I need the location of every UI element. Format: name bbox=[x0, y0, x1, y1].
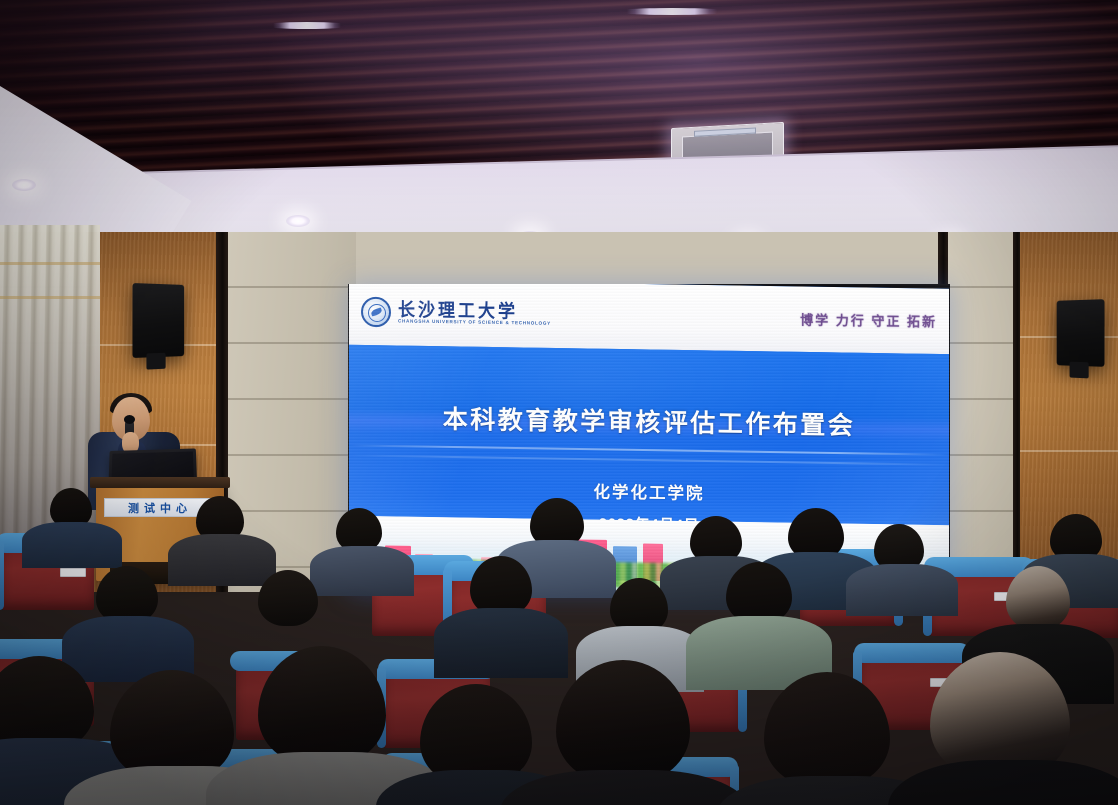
audience-shoulders bbox=[434, 608, 568, 678]
chair-number-tag bbox=[60, 568, 86, 577]
audience-head bbox=[470, 556, 532, 616]
wall-loudspeaker-right bbox=[1057, 299, 1105, 367]
slide-header-band: 长沙理工大学 CHANGSHA UNIVERSITY OF SCIENCE & … bbox=[349, 284, 949, 354]
speaker-bracket bbox=[146, 353, 165, 370]
ceiling-shadow-left bbox=[0, 0, 230, 120]
curtain-tie-2 bbox=[0, 296, 100, 299]
downlight-icon-1 bbox=[12, 179, 36, 191]
wood-seam bbox=[1020, 450, 1118, 452]
audience-shoulders bbox=[22, 522, 122, 568]
slide-divider-line-2 bbox=[349, 455, 949, 466]
university-logo: 长沙理工大学 CHANGSHA UNIVERSITY OF SCIENCE & … bbox=[361, 297, 551, 330]
speaker-bracket bbox=[1070, 362, 1089, 379]
audience-shoulders bbox=[846, 564, 958, 616]
ceiling-light-streak-1 bbox=[262, 22, 352, 29]
university-motto: 博学 力行 守正 拓新 bbox=[800, 309, 937, 330]
university-emblem-icon bbox=[361, 297, 391, 328]
slide-title: 本科教育教学审核评估工作布置会 bbox=[349, 398, 949, 444]
conference-hall-photo: 长沙理工大学 CHANGSHA UNIVERSITY OF SCIENCE & … bbox=[0, 0, 1118, 805]
slide-divider-line-1 bbox=[349, 445, 949, 456]
audience-shoulders bbox=[888, 760, 1118, 805]
audience-shoulders bbox=[168, 534, 276, 586]
wall-loudspeaker-left bbox=[132, 283, 184, 358]
curtain-tie-1 bbox=[0, 262, 100, 265]
audience-head bbox=[726, 562, 792, 624]
ceiling-light-streak-2 bbox=[612, 8, 732, 15]
downlight-icon-2 bbox=[286, 215, 310, 227]
university-logo-text: 长沙理工大学 CHANGSHA UNIVERSITY OF SCIENCE & … bbox=[398, 301, 551, 326]
university-name-cn: 长沙理工大学 bbox=[398, 301, 551, 322]
audience-head bbox=[258, 570, 318, 626]
microphone-capsule bbox=[124, 415, 135, 424]
audience-head bbox=[258, 646, 386, 766]
audience-shoulders bbox=[310, 546, 414, 596]
audience-area bbox=[0, 470, 1118, 805]
